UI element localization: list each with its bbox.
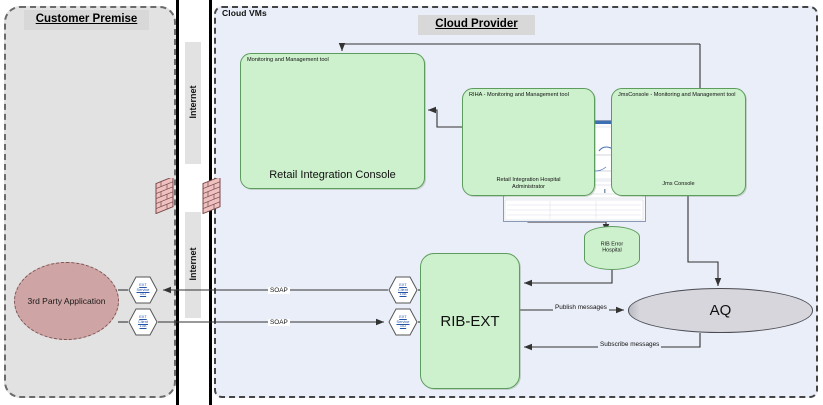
console-title: Retail Integration Hospital Administrato… <box>463 177 594 190</box>
internet-label-bottom: Internet <box>185 212 201 318</box>
endpoint-ext-service-10j-left[interactable]: EXT Service 10J <box>128 276 158 304</box>
console-title: Jms Console <box>612 181 745 187</box>
region-customer-premise <box>4 6 176 398</box>
node-aq[interactable]: AQ <box>628 288 813 333</box>
endpoint-ext-client-10a-left[interactable]: EXT Client 10A <box>128 308 158 336</box>
console-jms-console[interactable]: JmsConsole - Monitoring and Management t… <box>611 88 746 196</box>
node-third-party-application[interactable]: 3rd Party Application <box>14 262 119 340</box>
architecture-diagram: Customer Premise Cloud VMs Cloud Provide… <box>0 0 823 405</box>
endpoint-ext-service-10j-right[interactable]: EXT Service 10J <box>388 308 418 336</box>
console-title: Retail Integration Console <box>241 169 424 182</box>
node-rib-error-hospital[interactable]: RIB Error Hospital <box>584 226 640 270</box>
cloud-vms-tag: Cloud VMs <box>222 8 267 18</box>
cloud-provider-title: Cloud Provider <box>418 15 535 35</box>
endpoint-ext-client-10a-right[interactable]: EXT Client 10A <box>388 276 418 304</box>
error-hospital-line2: Hospital <box>602 248 621 254</box>
connector-label-soap-top: SOAP <box>268 287 290 294</box>
console-caption: JmsConsole - Monitoring and Management t… <box>618 92 741 98</box>
node-rib-ext[interactable]: RIB-EXT <box>420 253 520 389</box>
console-caption: Monitoring and Management tool <box>247 57 420 63</box>
connector-label-subscribe-messages: Subscribe messages <box>598 341 661 348</box>
console-caption: RIHA - Monitoring and Management tool <box>469 92 590 98</box>
connector-label-soap-bottom: SOAP <box>268 319 290 326</box>
console-retail-integration-console[interactable]: Monitoring and Management tool <box>240 53 425 189</box>
firewall-icon <box>155 178 175 214</box>
aq-label: AQ <box>628 302 813 320</box>
internet-label-top: Internet <box>185 42 201 164</box>
firewall-icon <box>202 178 222 214</box>
boundary-line-left <box>176 0 179 405</box>
connector-label-publish-messages: Publish messages <box>553 304 609 311</box>
error-hospital-line1: RIB Error <box>601 242 623 248</box>
customer-premise-title: Customer Premise <box>24 10 149 30</box>
console-retail-integration-hospital-administrator[interactable]: RIHA - Monitoring and Management tool <box>462 88 595 196</box>
